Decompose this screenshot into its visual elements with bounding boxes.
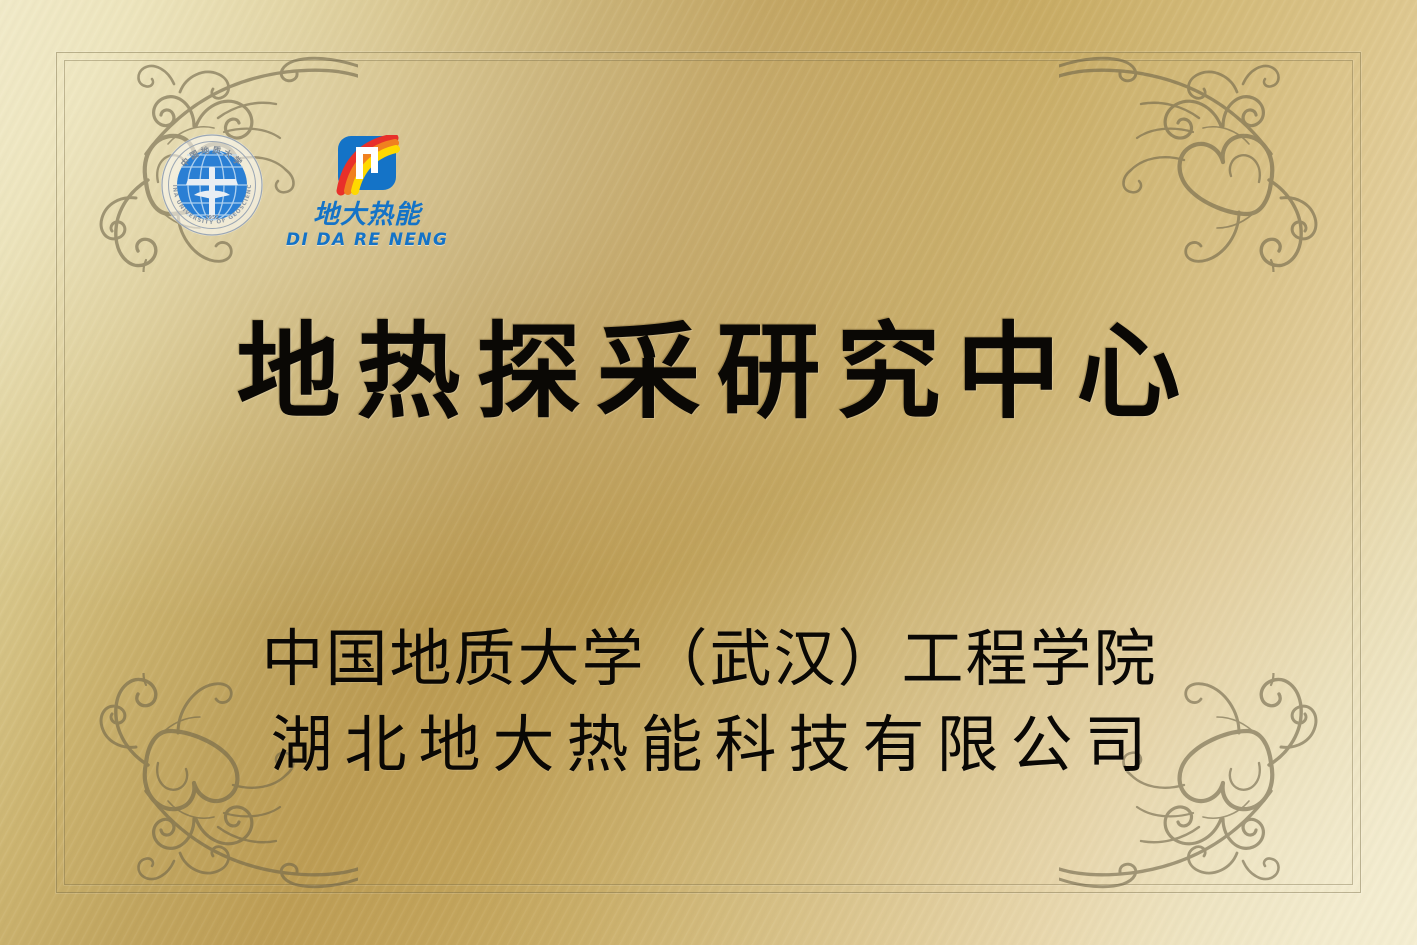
award-plaque: 中国地质大学 CHINA UNIVERSITY OF GEOSCIENCES 1… xyxy=(0,0,1417,945)
svg-text:地大热能: 地大热能 xyxy=(313,200,423,229)
corner-flourish-top-right-icon xyxy=(1059,14,1389,272)
organization-line-2: 湖北地大热能科技有限公司 xyxy=(0,702,1417,788)
organization-lines: 中国地质大学（武汉）工程学院 湖北地大热能科技有限公司 xyxy=(0,616,1417,787)
didareneng-mark-icon xyxy=(334,135,400,197)
cug-year-text: 1952 xyxy=(205,215,219,221)
didareneng-logo: 地大热能 DI DA RE NENG xyxy=(286,135,448,250)
page-title: 地热探采研究中心 xyxy=(0,318,1417,426)
logo-row: 中国地质大学 CHINA UNIVERSITY OF GEOSCIENCES 1… xyxy=(160,133,448,250)
didareneng-wordmark-cn-icon: 地大热能 xyxy=(297,199,437,229)
organization-line-1: 中国地质大学（武汉）工程学院 xyxy=(0,616,1417,702)
cug-university-seal-icon: 中国地质大学 CHINA UNIVERSITY OF GEOSCIENCES 1… xyxy=(160,133,264,237)
didareneng-wordmark-latin: DI DA RE NENG xyxy=(286,230,448,250)
